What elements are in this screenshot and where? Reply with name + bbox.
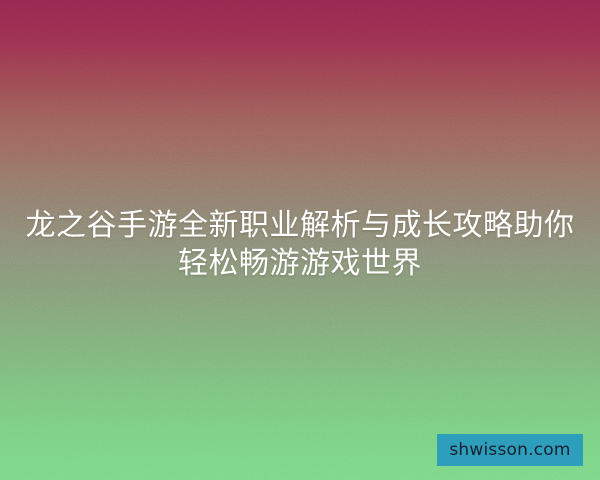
watermark-badge[interactable]: shwisson.com <box>437 434 583 466</box>
promo-banner: 龙之谷手游全新职业解析与成长攻略助你 轻松畅游游戏世界 shwisson.com <box>0 0 600 480</box>
page-title: 龙之谷手游全新职业解析与成长攻略助你 轻松畅游游戏世界 <box>0 207 600 283</box>
watermark-label: shwisson.com <box>449 442 570 459</box>
title-line-1: 龙之谷手游全新职业解析与成长攻略助你 <box>14 207 586 245</box>
title-line-2: 轻松畅游游戏世界 <box>14 245 586 283</box>
